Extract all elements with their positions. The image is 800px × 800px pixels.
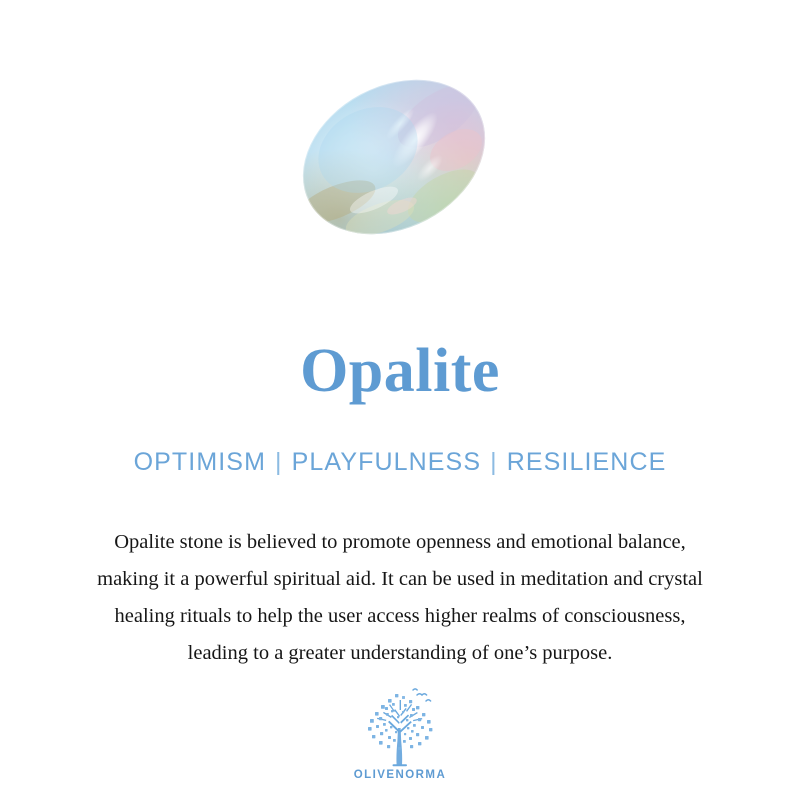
keyword-separator-1: | [266,448,292,476]
description-line-1: Opalite stone is believed to promote ope… [22,524,778,561]
gemstone-image [0,0,800,300]
description-line-4: leading to a greater understanding of on… [22,635,778,672]
description-paragraph: Opalite stone is believed to promote ope… [22,524,778,672]
opalite-stone-illustration [0,0,800,300]
keyword-separator-2: | [481,448,507,476]
keyword-list: OPTIMISM|PLAYFULNESS|RESILIENCE [0,446,800,478]
stone-group [276,49,512,265]
opalite-info-card: Opalite OPTIMISM|PLAYFULNESS|RESILIENCE … [0,0,800,800]
keyword-optimism: OPTIMISM [134,448,266,476]
birds-icon [413,689,431,701]
brand-wordmark: OLIVENORMA [340,769,460,781]
stone-title: Opalite [0,336,800,406]
description-line-2: making it a powerful spiritual aid. It c… [22,561,778,598]
keyword-resilience: RESILIENCE [507,448,667,476]
keyword-playfulness: PLAYFULNESS [292,448,481,476]
tree-icon [355,686,445,768]
brand-logo: OLIVENORMA [340,686,460,790]
description-line-3: healing rituals to help the user access … [22,598,778,635]
